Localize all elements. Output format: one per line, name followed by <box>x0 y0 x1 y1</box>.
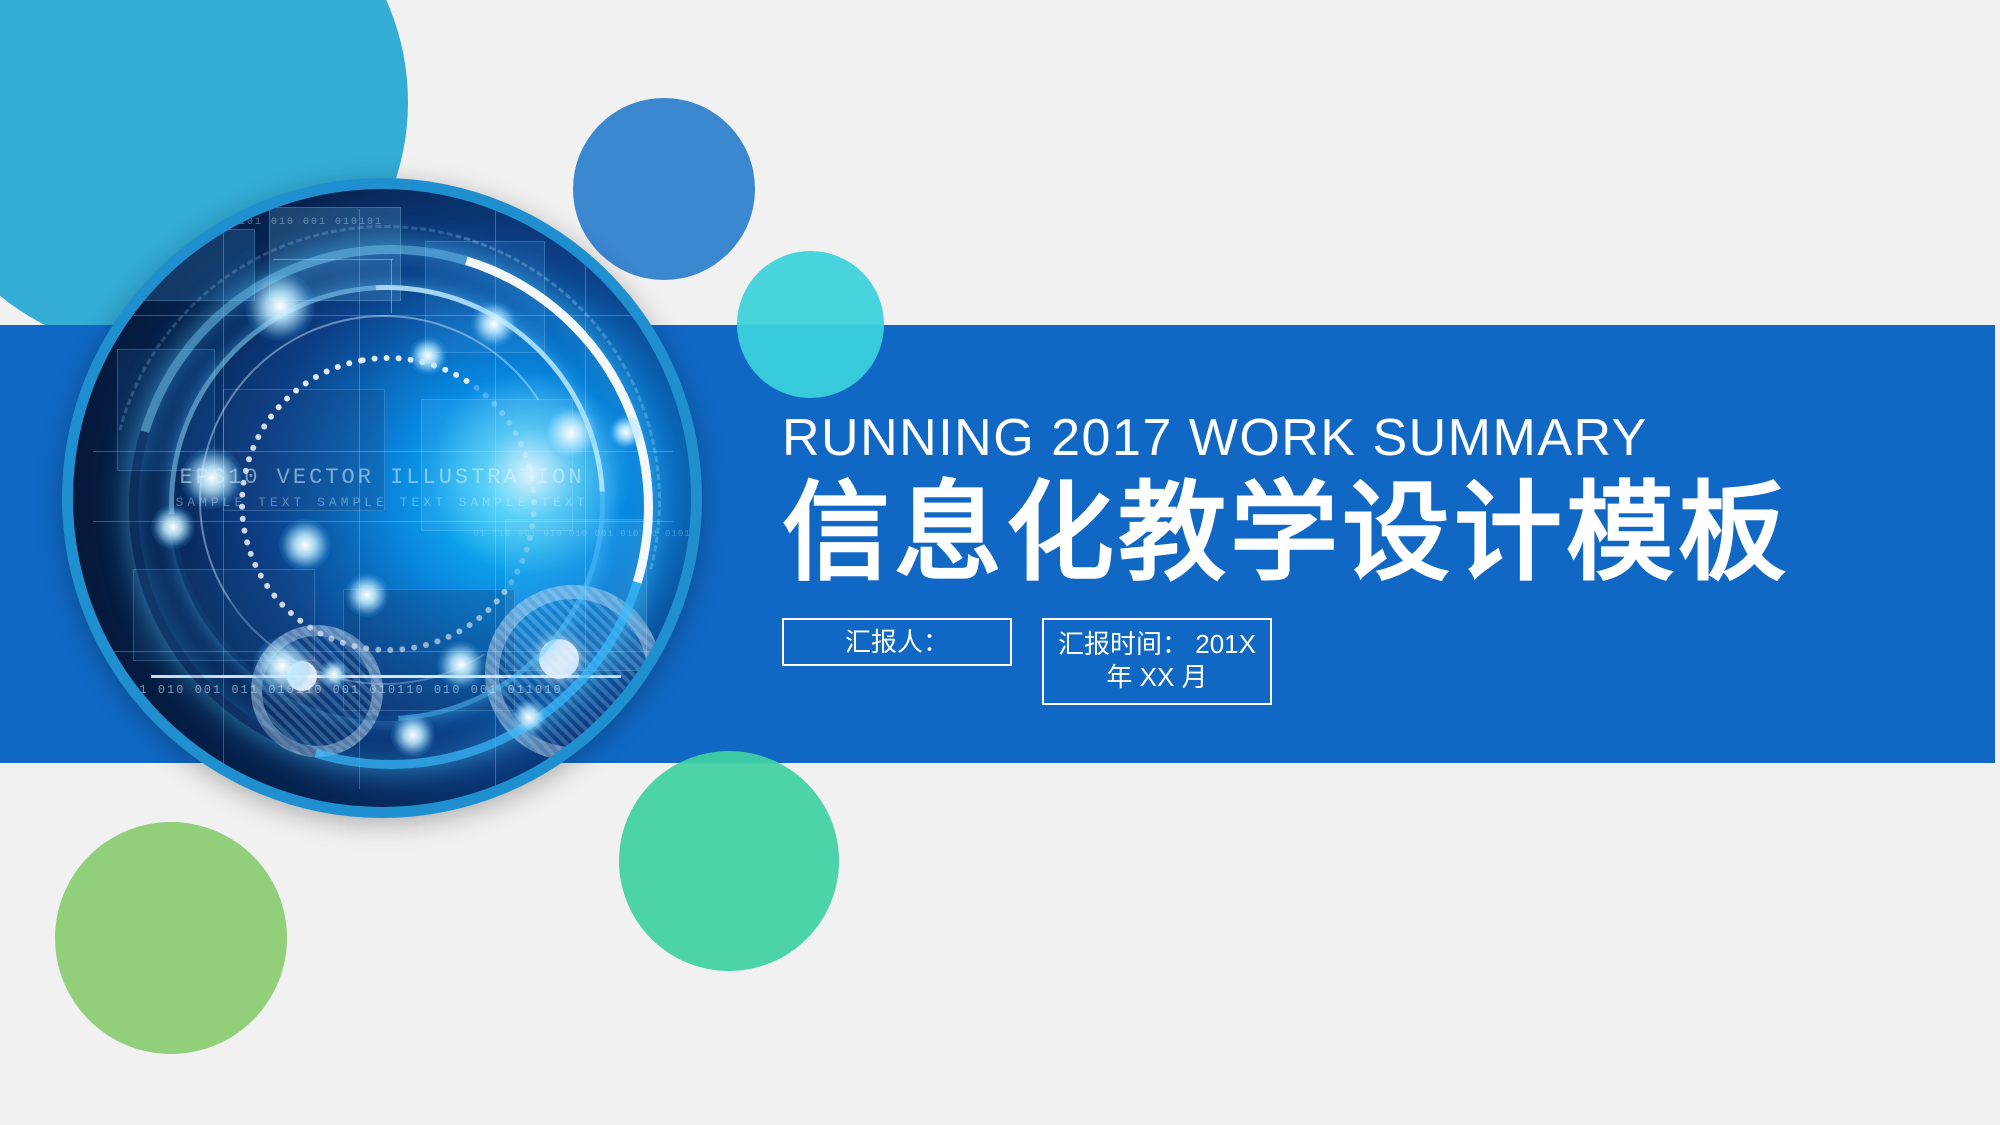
glow-dot <box>543 405 599 461</box>
hero-code-text: 01 110 001 010 010 001 010 01 0101010 <box>473 529 691 539</box>
page-title: 信息化教学设计模板 <box>782 473 1962 594</box>
hero-binary-bottom-text: 001 010 001 011 010110 001 010110 010 00… <box>121 683 563 697</box>
glow-dot <box>471 301 517 347</box>
decorative-circle-blue-medium <box>573 98 755 280</box>
hero-tech-circle-inner: 001 01 010101 010 001 010101 EPS10 VECTO… <box>73 189 691 807</box>
decorative-circle-green-teal <box>619 751 839 971</box>
glow-dot <box>437 641 485 689</box>
glow-dot <box>151 505 195 549</box>
glow-dot <box>409 337 447 375</box>
hero-main-text: EPS10 VECTOR ILLUSTRATION <box>73 465 691 490</box>
glow-dot <box>279 519 331 571</box>
glow-dot <box>511 699 547 735</box>
report-time-field[interactable]: 汇报时间： 201X 年 XX 月 <box>1042 618 1272 705</box>
glow-dot <box>345 573 389 617</box>
hero-binary-top-text: 001 01 010101 010 001 010101 <box>159 217 383 228</box>
decorative-circle-green-light <box>55 822 287 1054</box>
glow-dot <box>391 713 435 757</box>
glow-dot <box>609 415 643 449</box>
hero-tech-circle: 001 01 010101 010 001 010101 EPS10 VECTO… <box>62 178 702 818</box>
meta-row: 汇报人： 汇报时间： 201X 年 XX 月 <box>782 618 1962 705</box>
title-text-block: RUNNING 2017 WORK SUMMARY 信息化教学设计模板 汇报人：… <box>782 410 1962 705</box>
hero-sub-text: SAMPLE TEXT SAMPLE TEXT SAMPLE TEXT <box>73 495 691 510</box>
presenter-field[interactable]: 汇报人： <box>782 618 1012 666</box>
subtitle-english: RUNNING 2017 WORK SUMMARY <box>782 410 1962 467</box>
glow-dot <box>245 271 315 341</box>
presentation-slide: 001 01 010101 010 001 010101 EPS10 VECTO… <box>0 0 2000 1125</box>
